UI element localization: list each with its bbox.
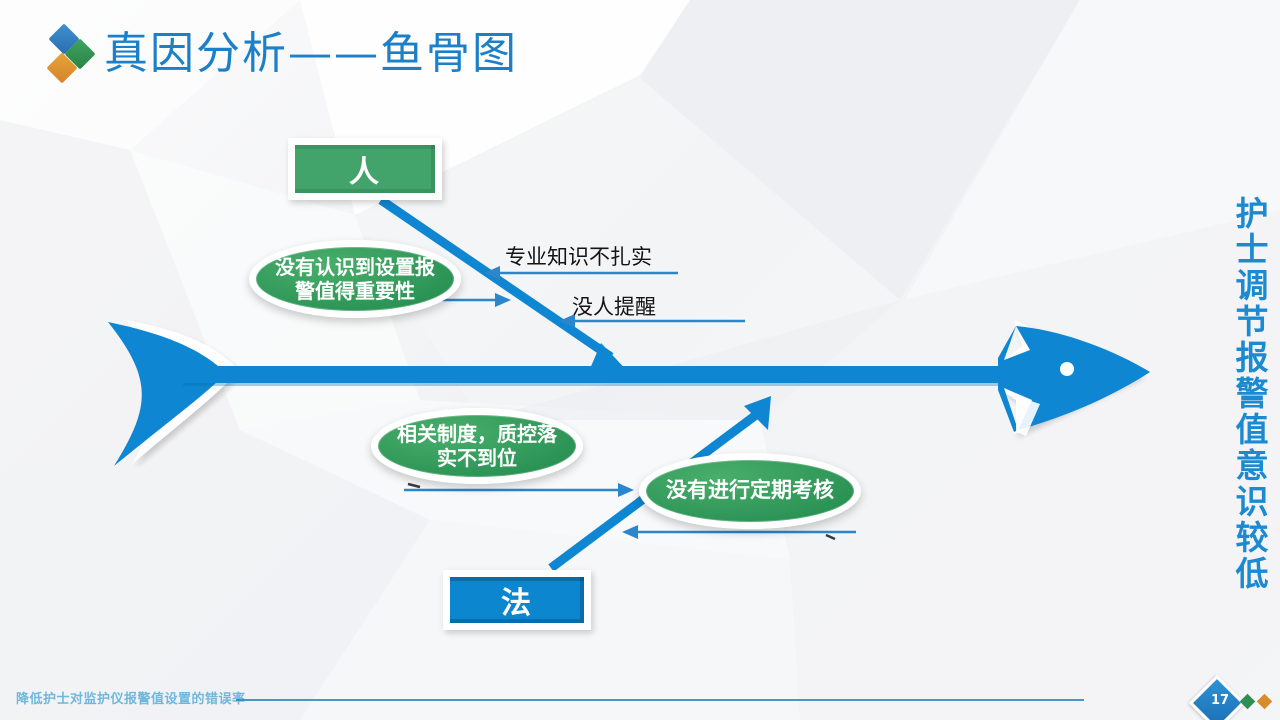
footer-text: 降低护士对监护仪报警值设置的错误率 [16,688,246,707]
fishbone-diagram [0,0,1280,720]
effect-statement: 护士调节报警值意识较低 [1222,196,1266,592]
arrow-bubble2-out [404,483,634,497]
page-number: 17 [1203,683,1237,717]
logo-diamonds [48,26,94,82]
slide-canvas: 真因分析——鱼骨图 人 法 没有认识到设置报警值得重要性 相关制度，质控落实不到… [0,0,1280,720]
page-title: 真因分析——鱼骨图 [48,26,518,82]
arrow-bubble1-out [442,293,511,307]
cause-bubble-3[interactable]: 没有进行定期考核 [639,453,861,529]
category-box-ren[interactable]: 人 [288,138,442,200]
footer-divider [236,699,1084,701]
cause-bubble-2[interactable]: 相关制度，质控落实不到位 [371,408,583,484]
cause-label-2: 没人提醒 [572,291,656,321]
category-label-ren: 人 [349,147,381,191]
category-box-fa[interactable]: 法 [443,570,591,630]
title-text: 真因分析——鱼骨图 [104,32,518,76]
cause-label-1: 专业知识不扎实 [505,241,652,271]
cause-bubble-1[interactable]: 没有认识到设置报警值得重要性 [249,240,461,318]
fish-eye [1060,362,1074,376]
category-label-fa: 法 [501,578,533,622]
